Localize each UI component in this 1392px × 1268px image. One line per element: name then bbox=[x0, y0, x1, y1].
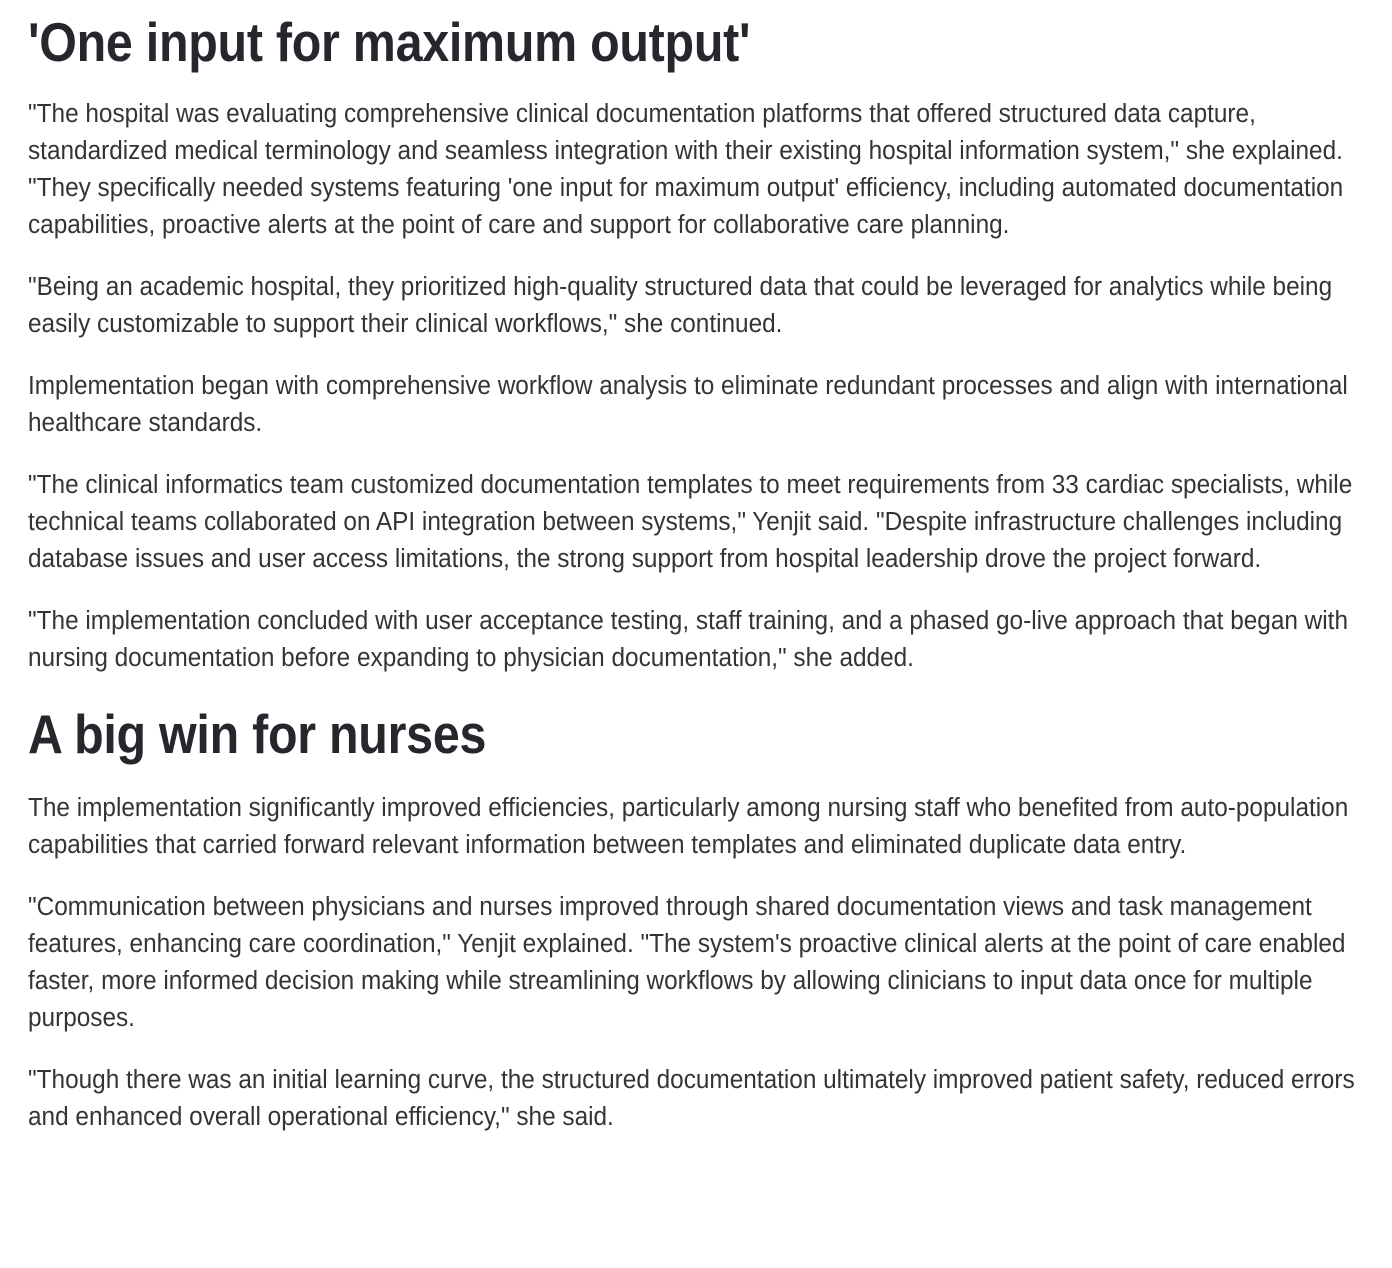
paragraph: "The clinical informatics team customize… bbox=[28, 467, 1367, 578]
paragraph: "The implementation concluded with user … bbox=[28, 603, 1367, 677]
spacer bbox=[28, 1037, 1364, 1062]
paragraph: "Communication between physicians and nu… bbox=[28, 889, 1367, 1037]
article-body: 'One input for maximum output' "The hosp… bbox=[0, 0, 1392, 1136]
spacer bbox=[28, 244, 1364, 269]
paragraph: The implementation significantly improve… bbox=[28, 790, 1367, 864]
spacer bbox=[28, 343, 1364, 368]
section-heading: A big win for nurses bbox=[28, 683, 1204, 766]
page-title: 'One input for maximum output' bbox=[28, 0, 1204, 74]
paragraph: Implementation began with comprehensive … bbox=[28, 368, 1367, 442]
spacer bbox=[28, 442, 1364, 467]
spacer bbox=[28, 864, 1364, 889]
paragraph: "The hospital was evaluating comprehensi… bbox=[28, 96, 1367, 244]
spacer bbox=[28, 74, 1364, 96]
paragraph: "Though there was an initial learning cu… bbox=[28, 1062, 1367, 1136]
spacer bbox=[28, 765, 1364, 790]
spacer bbox=[28, 578, 1364, 603]
paragraph: "Being an academic hospital, they priori… bbox=[28, 269, 1367, 343]
